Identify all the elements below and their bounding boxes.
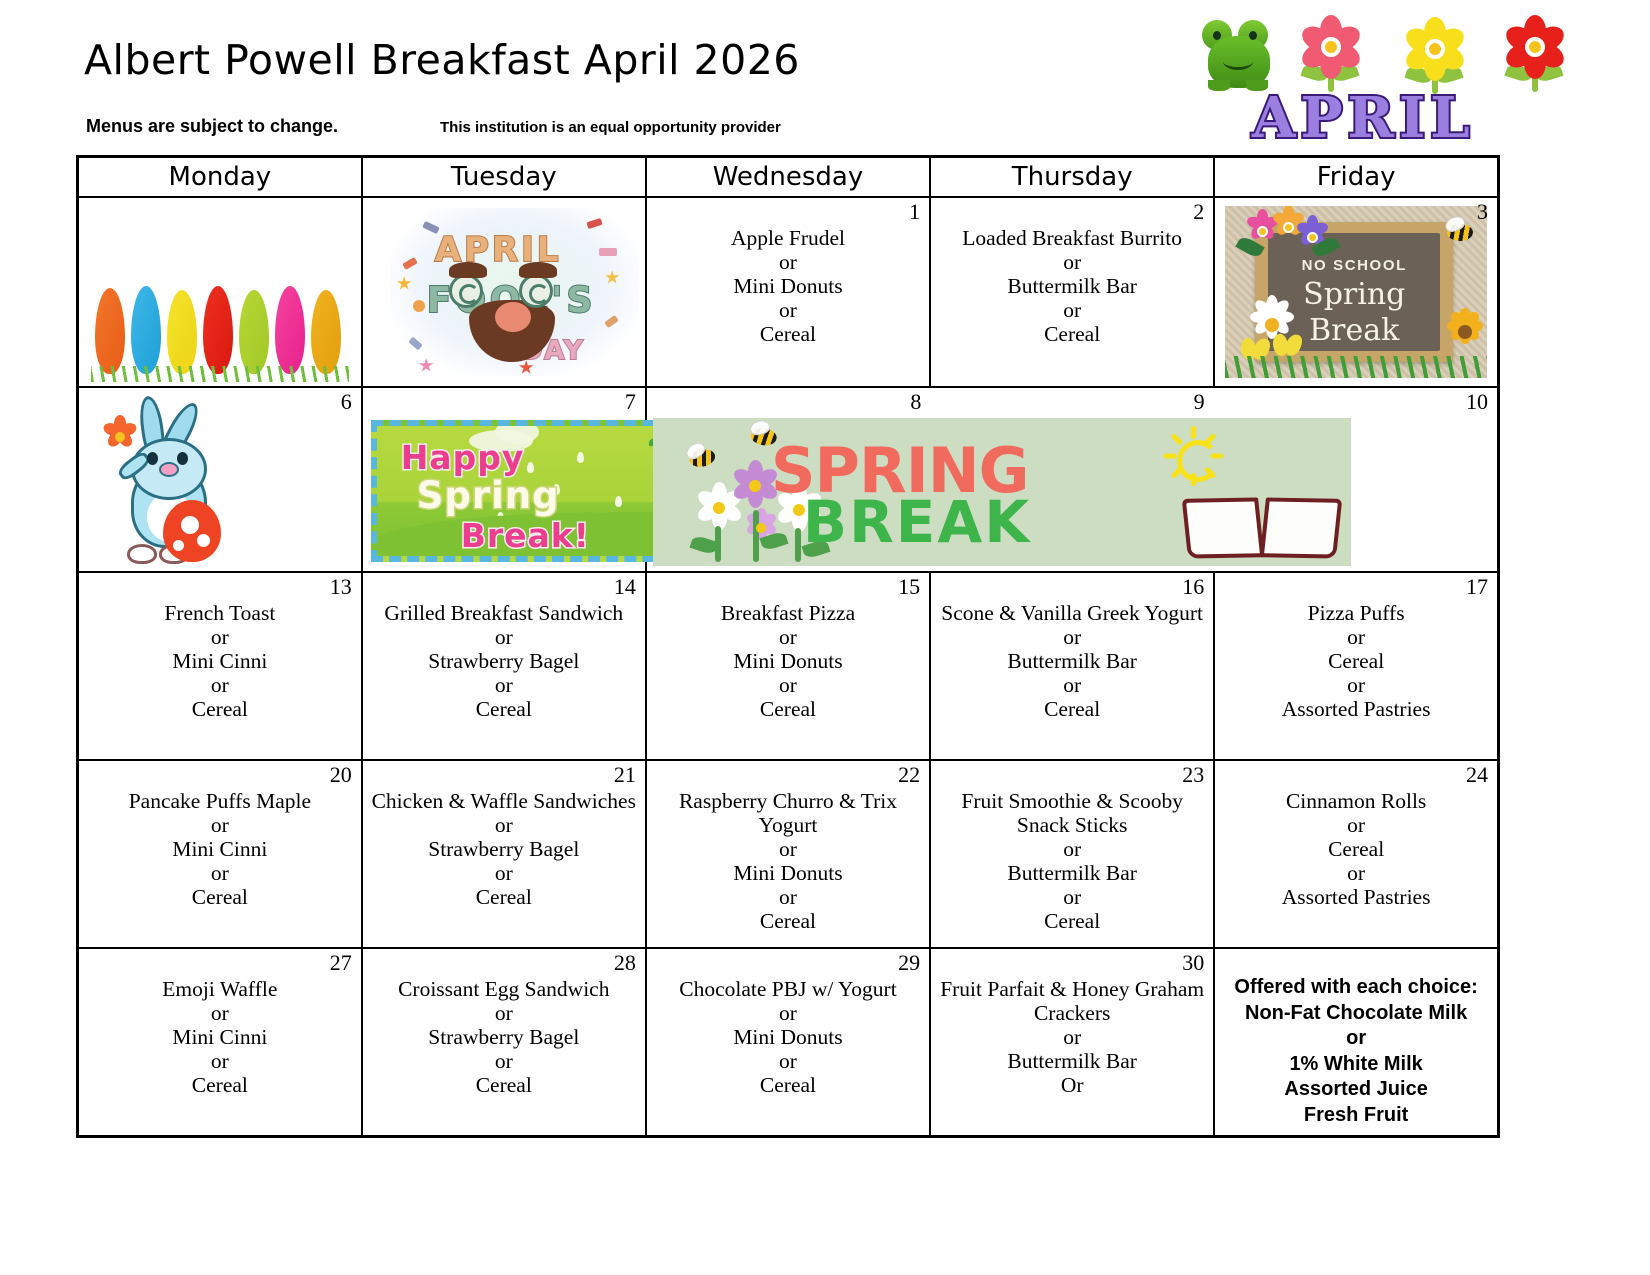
calendar-week-row: 6: [78, 387, 1499, 572]
calendar-day-cell[interactable]: 16 Scone & Vanilla Greek Yogurt or Butte…: [930, 572, 1214, 760]
day-number: 30: [1182, 951, 1204, 975]
menu-items: Grilled Breakfast Sandwich or Strawberry…: [363, 573, 645, 721]
calendar-day-cell[interactable]: 13 French Toast or Mini Cinni or Cereal: [78, 572, 362, 760]
april-fools-day-icon: APRIL FOOL'S DAY: [391, 208, 639, 376]
no-school-spring-break-sign-icon: NO SCHOOL Spring Break: [1225, 206, 1487, 378]
note-line: or: [1219, 1026, 1493, 1052]
calendar-day-cell[interactable]: 22 Raspberry Churro & Trix Yogurt or Min…: [646, 760, 930, 948]
day-number: 16: [1182, 575, 1204, 599]
menu-line: or: [653, 885, 923, 909]
offered-with-each-choice-cell: Offered with each choice: Non-Fat Chocol…: [1214, 948, 1498, 1137]
menu-line: or: [937, 250, 1207, 274]
menu-line: Cereal: [1221, 649, 1491, 673]
day-number: 22: [898, 763, 920, 787]
menu-items: Fruit Parfait & Honey Graham Crackers or…: [931, 949, 1213, 1097]
calendar-week-row: 13 French Toast or Mini Cinni or Cereal …: [78, 572, 1499, 760]
menu-calendar: Monday Tuesday Wednesday Thursday Friday: [76, 155, 1500, 1138]
note-line: Fresh Fruit: [1219, 1103, 1493, 1129]
day-number: 13: [330, 575, 352, 599]
menu-line: Cereal: [937, 322, 1207, 346]
happy-spring-break-line2: Spring: [417, 474, 560, 517]
day-number: 21: [614, 763, 636, 787]
menu-line: Cereal: [85, 697, 355, 721]
menu-line: Cereal: [653, 909, 923, 933]
note-line: 1% White Milk: [1219, 1052, 1493, 1078]
day-number: 2: [1193, 200, 1204, 224]
menu-line: Cereal: [937, 697, 1207, 721]
note-line: Assorted Juice: [1219, 1077, 1493, 1103]
menu-line: Emoji Waffle: [85, 977, 355, 1001]
menu-line: Mini Cinni: [85, 1025, 355, 1049]
day-header-tuesday: Tuesday: [362, 157, 646, 198]
calendar-day-cell-spring-break[interactable]: SPRING BREAK 8 9 10: [646, 387, 1499, 572]
menu-line: Or: [937, 1073, 1207, 1097]
menu-items: Croissant Egg Sandwich or Strawberry Bag…: [363, 949, 645, 1097]
menu-line: Cereal: [85, 885, 355, 909]
menu-line: Cereal: [369, 885, 639, 909]
menu-line: Scone & Vanilla Greek Yogurt: [937, 601, 1207, 625]
menu-line: Chocolate PBJ w/ Yogurt: [653, 977, 923, 1001]
menu-line: Mini Donuts: [653, 649, 923, 673]
calendar-day-cell[interactable]: 28 Croissant Egg Sandwich or Strawberry …: [362, 948, 646, 1137]
menu-line: or: [653, 298, 923, 322]
bee-icon: [681, 443, 719, 472]
menu-items: Apple Frudel or Mini Donuts or Cereal: [647, 198, 929, 346]
calendar-day-cell[interactable]: 17 Pizza Puffs or Cereal or Assorted Pas…: [1214, 572, 1498, 760]
easter-bunny-icon: [101, 396, 261, 568]
day-number: 6: [341, 390, 352, 414]
day-number: 20: [330, 763, 352, 787]
menu-line: Cereal: [653, 1073, 923, 1097]
day-number: 28: [614, 951, 636, 975]
menu-line: Buttermilk Bar: [937, 861, 1207, 885]
easter-eggs-icon: [91, 270, 349, 382]
menu-items: Loaded Breakfast Burrito or Buttermilk B…: [931, 198, 1213, 346]
menu-line: or: [85, 1049, 355, 1073]
menu-line: or: [653, 837, 923, 861]
day-number: 9: [1194, 390, 1205, 414]
happy-spring-break-line3: Break!: [461, 516, 590, 555]
menu-line: or: [937, 673, 1207, 697]
pink-flower-icon: [1300, 16, 1362, 78]
menu-line: Cereal: [369, 697, 639, 721]
day-header-thursday: Thursday: [930, 157, 1214, 198]
day-number: 24: [1466, 763, 1488, 787]
day-number: 10: [1466, 390, 1488, 414]
no-school-line1: NO SCHOOL: [1268, 257, 1440, 274]
day-number: 15: [898, 575, 920, 599]
menu-items: Chicken & Waffle Sandwiches or Strawberr…: [363, 761, 645, 909]
menu-items: Pizza Puffs or Cereal or Assorted Pastri…: [1215, 573, 1497, 721]
page-header: Albert Powell Breakfast April 2026 Menus…: [0, 0, 1650, 155]
menu-line: Fruit Smoothie & Scooby Snack Sticks: [937, 789, 1207, 837]
flower-icon: [103, 420, 137, 454]
calendar-day-cell[interactable]: APRIL FOOL'S DAY: [362, 197, 646, 387]
menu-line: or: [85, 625, 355, 649]
note-line: Offered with each choice:: [1219, 975, 1493, 1001]
spring-break-banner-icon: SPRING BREAK: [653, 418, 1351, 566]
calendar-day-cell[interactable]: 20 Pancake Puffs Maple or Mini Cinni or …: [78, 760, 362, 948]
calendar-day-cell[interactable]: 24 Cinnamon Rolls or Cereal or Assorted …: [1214, 760, 1498, 948]
menu-items: Cinnamon Rolls or Cereal or Assorted Pas…: [1215, 761, 1497, 909]
menu-line: Cereal: [653, 697, 923, 721]
day-header-friday: Friday: [1214, 157, 1498, 198]
menu-line: Loaded Breakfast Burrito: [937, 226, 1207, 250]
menu-line: or: [1221, 861, 1491, 885]
menu-line: Cereal: [937, 909, 1207, 933]
sun-icon: [1163, 426, 1223, 486]
calendar-day-cell[interactable]: 6: [78, 387, 362, 572]
menu-line: or: [653, 250, 923, 274]
menu-line: Buttermilk Bar: [937, 649, 1207, 673]
menu-items: Fruit Smoothie & Scooby Snack Sticks or …: [931, 761, 1213, 933]
menu-line: Cereal: [653, 322, 923, 346]
menu-line: Mini Cinni: [85, 649, 355, 673]
calendar-day-cell[interactable]: 23 Fruit Smoothie & Scooby Snack Sticks …: [930, 760, 1214, 948]
spring-break-line2: BREAK: [803, 488, 1031, 556]
menu-line: Mini Donuts: [653, 1025, 923, 1049]
menu-line: or: [369, 1001, 639, 1025]
menu-items: Pancake Puffs Maple or Mini Cinni or Cer…: [79, 761, 361, 909]
menu-line: Chicken & Waffle Sandwiches: [369, 789, 639, 813]
day-number: 8: [910, 390, 921, 414]
menu-items: Breakfast Pizza or Mini Donuts or Cereal: [647, 573, 929, 721]
menu-line: or: [653, 673, 923, 697]
menu-line: or: [85, 861, 355, 885]
menu-line: Breakfast Pizza: [653, 601, 923, 625]
menu-line: or: [369, 1049, 639, 1073]
menu-line: Pizza Puffs: [1221, 601, 1491, 625]
menu-line: Strawberry Bagel: [369, 837, 639, 861]
calendar-day-cell[interactable]: 15 Breakfast Pizza or Mini Donuts or Cer…: [646, 572, 930, 760]
menu-items: Chocolate PBJ w/ Yogurt or Mini Donuts o…: [647, 949, 929, 1097]
day-number: 14: [614, 575, 636, 599]
calendar-week-row: APRIL FOOL'S DAY 1 Apple Frudel or Mini …: [78, 197, 1499, 387]
day-header-wednesday: Wednesday: [646, 157, 930, 198]
menu-line: Strawberry Bagel: [369, 649, 639, 673]
calendar-day-cell[interactable]: 21 Chicken & Waffle Sandwiches or Strawb…: [362, 760, 646, 948]
menu-line: Buttermilk Bar: [937, 1049, 1207, 1073]
april-month-clipart: APRIL: [1192, 8, 1592, 153]
menu-line: Mini Donuts: [653, 274, 923, 298]
menu-items: French Toast or Mini Cinni or Cereal: [79, 573, 361, 721]
milk-and-sides-note: Offered with each choice: Non-Fat Chocol…: [1215, 949, 1497, 1129]
menu-line: Strawberry Bagel: [369, 1025, 639, 1049]
note-line: Non-Fat Chocolate Milk: [1219, 1001, 1493, 1027]
menu-line: or: [85, 813, 355, 837]
calendar-day-cell[interactable]: 2 Loaded Breakfast Burrito or Buttermilk…: [930, 197, 1214, 387]
menu-line: Cereal: [369, 1073, 639, 1097]
menu-line: or: [937, 298, 1207, 322]
menu-line: or: [1221, 673, 1491, 697]
day-number: 29: [898, 951, 920, 975]
menu-line: Assorted Pastries: [1221, 885, 1491, 909]
day-number: 1: [909, 200, 920, 224]
menu-line: or: [653, 1001, 923, 1025]
yellow-flower-icon: [1404, 18, 1466, 80]
menu-items: Raspberry Churro & Trix Yogurt or Mini D…: [647, 761, 929, 933]
day-number: 17: [1466, 575, 1488, 599]
menu-line: or: [1221, 813, 1491, 837]
menu-items: Emoji Waffle or Mini Cinni or Cereal: [79, 949, 361, 1097]
calendar-day-cell[interactable]: 14 Grilled Breakfast Sandwich or Strawbe…: [362, 572, 646, 760]
menu-line: or: [937, 625, 1207, 649]
april-wordmark: APRIL: [1252, 85, 1475, 151]
calendar-week-row: 20 Pancake Puffs Maple or Mini Cinni or …: [78, 760, 1499, 948]
menu-line: or: [369, 625, 639, 649]
menu-line: or: [369, 861, 639, 885]
menu-line: Cereal: [1221, 837, 1491, 861]
happy-spring-break-line1: Happy: [401, 438, 525, 477]
calendar-day-cell[interactable]: 30 Fruit Parfait & Honey Graham Crackers…: [930, 948, 1214, 1137]
menu-line: Mini Donuts: [653, 861, 923, 885]
menu-line: or: [937, 1025, 1207, 1049]
menu-line: Cinnamon Rolls: [1221, 789, 1491, 813]
calendar-day-cell[interactable]: NO SCHOOL Spring Break: [1214, 197, 1498, 387]
menu-line: or: [1221, 625, 1491, 649]
menu-line: Buttermilk Bar: [937, 274, 1207, 298]
menu-line: Fruit Parfait & Honey Graham Crackers: [937, 977, 1207, 1025]
menu-line: French Toast: [85, 601, 355, 625]
menu-line: Raspberry Churro & Trix Yogurt: [653, 789, 923, 837]
menu-line: Pancake Puffs Maple: [85, 789, 355, 813]
menu-line: Mini Cinni: [85, 837, 355, 861]
day-header-monday: Monday: [78, 157, 362, 198]
page-title: Albert Powell Breakfast April 2026: [84, 36, 800, 84]
open-book-icon: [1185, 498, 1341, 562]
menu-line: or: [85, 673, 355, 697]
day-number: 23: [1182, 763, 1204, 787]
menus-subject-to-change-note: Menus are subject to change.: [86, 116, 338, 137]
frog-icon: [1200, 20, 1278, 92]
menu-line: Grilled Breakfast Sandwich: [369, 601, 639, 625]
calendar-day-cell[interactable]: 29 Chocolate PBJ w/ Yogurt or Mini Donut…: [646, 948, 930, 1137]
equal-opportunity-statement: This institution is an equal opportunity…: [440, 119, 781, 136]
menu-line: or: [369, 673, 639, 697]
menu-line: or: [653, 1049, 923, 1073]
calendar-day-cell[interactable]: [78, 197, 362, 387]
day-number: 3: [1477, 200, 1488, 224]
menu-line: or: [937, 837, 1207, 861]
menu-line: Croissant Egg Sandwich: [369, 977, 639, 1001]
bee-icon: [1441, 220, 1475, 242]
menu-items: Scone & Vanilla Greek Yogurt or Buttermi…: [931, 573, 1213, 721]
day-header-row: Monday Tuesday Wednesday Thursday Friday: [78, 157, 1499, 198]
day-number: 27: [330, 951, 352, 975]
menu-line: or: [85, 1001, 355, 1025]
menu-line: Apple Frudel: [653, 226, 923, 250]
menu-line: or: [369, 813, 639, 837]
calendar-day-cell[interactable]: 27 Emoji Waffle or Mini Cinni or Cereal: [78, 948, 362, 1137]
calendar-day-cell[interactable]: 1 Apple Frudel or Mini Donuts or Cereal: [646, 197, 930, 387]
menu-line: or: [653, 625, 923, 649]
calendar-day-cell[interactable]: Happy Spring Break! 7: [362, 387, 646, 572]
menu-line: Cereal: [85, 1073, 355, 1097]
menu-line: or: [937, 885, 1207, 909]
day-number: 7: [625, 390, 636, 414]
sunflower-icon: [1445, 312, 1485, 352]
menu-line: Assorted Pastries: [1221, 697, 1491, 721]
calendar-week-row: 27 Emoji Waffle or Mini Cinni or Cereal …: [78, 948, 1499, 1137]
red-flower-icon: [1504, 16, 1566, 78]
